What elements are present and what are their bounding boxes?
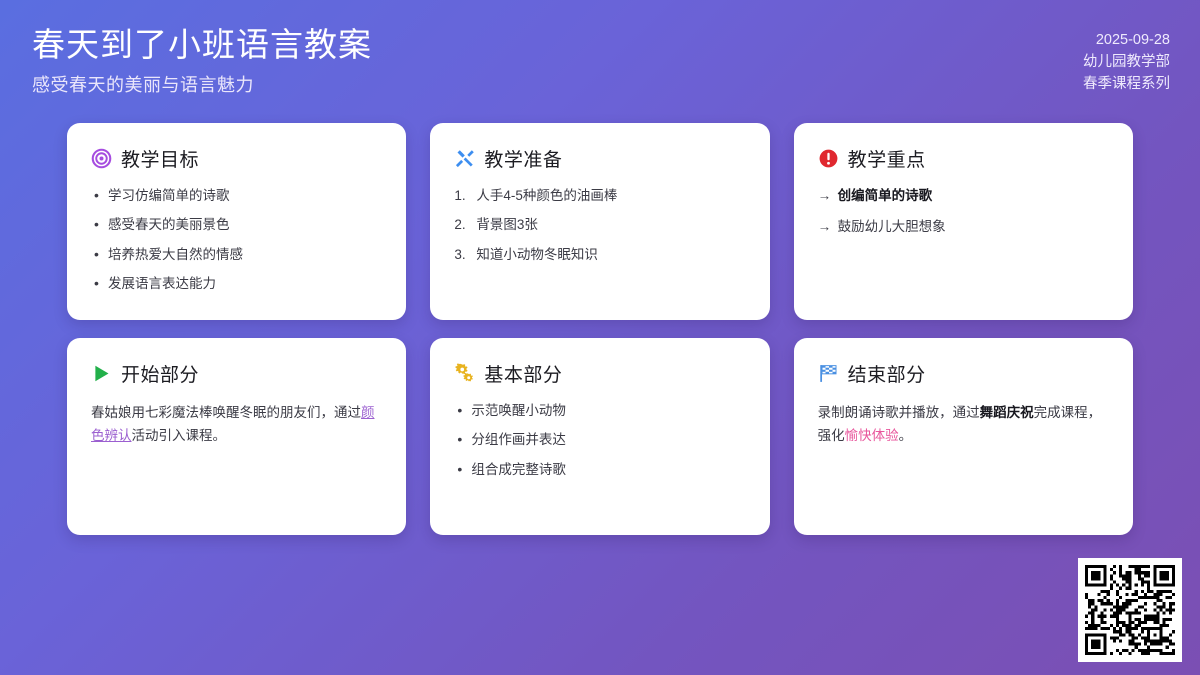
list-item: 分组作画并表达 xyxy=(454,430,745,450)
tools-icon xyxy=(454,148,475,169)
card-list: 示范唤醒小动物分组作画并表达组合成完整诗歌 xyxy=(454,401,745,480)
meta-date: 2025-09-28 xyxy=(1083,30,1170,52)
list-item: 背景图3张 xyxy=(454,215,745,235)
target-icon xyxy=(91,148,112,169)
card-header: 教学准备 xyxy=(454,145,745,172)
header: 春天到了小班语言教案 感受春天的美丽与语言魅力 xyxy=(32,24,372,97)
flag-icon xyxy=(818,363,839,384)
card: 基本部分示范唤醒小动物分组作画并表达组合成完整诗歌 xyxy=(430,338,769,535)
list-item: 人手4-5种颜色的油画棒 xyxy=(454,186,745,206)
card-list: 学习仿编简单的诗歌感受春天的美丽景色培养热爱大自然的情感发展语言表达能力 xyxy=(91,186,382,294)
card: 结束部分录制朗诵诗歌并播放，通过舞蹈庆祝完成课程，强化愉快体验。 xyxy=(794,338,1133,535)
list-item: 示范唤醒小动物 xyxy=(454,401,745,421)
highlight-text: 愉快体验 xyxy=(845,428,899,443)
header-meta: 2025-09-28 幼儿园教学部 春季课程系列 xyxy=(1083,30,1170,95)
list-item: 发展语言表达能力 xyxy=(91,274,382,294)
play-icon xyxy=(91,363,112,384)
card-list: 人手4-5种颜色的油画棒背景图3张知道小动物冬眠知识 xyxy=(454,186,745,265)
card-header: 结束部分 xyxy=(818,360,1109,387)
qr-code-image xyxy=(1085,565,1175,655)
card-grid: 教学目标学习仿编简单的诗歌感受春天的美丽景色培养热爱大自然的情感发展语言表达能力… xyxy=(67,123,1133,535)
list-item: 培养热爱大自然的情感 xyxy=(91,245,382,265)
card-title: 开始部分 xyxy=(121,360,199,387)
card-title: 结束部分 xyxy=(848,360,926,387)
card-paragraph: 春姑娘用七彩魔法棒唤醒冬眠的朋友们，通过颜色辨认活动引入课程。 xyxy=(91,401,382,447)
paragraph-text: 。 xyxy=(899,428,913,443)
paragraph-text: 春姑娘用七彩魔法棒唤醒冬眠的朋友们，通过 xyxy=(91,405,361,420)
page-title: 春天到了小班语言教案 xyxy=(32,24,372,65)
card-header: 基本部分 xyxy=(454,360,745,387)
card-title: 教学重点 xyxy=(848,145,926,172)
emphasis-text: 舞蹈庆祝 xyxy=(980,405,1034,420)
meta-department: 幼儿园教学部 xyxy=(1083,52,1170,74)
card: 教学重点创编简单的诗歌鼓励幼儿大胆想象 xyxy=(794,123,1133,320)
card: 开始部分春姑娘用七彩魔法棒唤醒冬眠的朋友们，通过颜色辨认活动引入课程。 xyxy=(67,338,406,535)
card: 教学目标学习仿编简单的诗歌感受春天的美丽景色培养热爱大自然的情感发展语言表达能力 xyxy=(67,123,406,320)
card-title: 教学准备 xyxy=(484,145,562,172)
page-subtitle: 感受春天的美丽与语言魅力 xyxy=(32,71,372,97)
paragraph-text: 活动引入课程。 xyxy=(132,428,227,443)
card-list: 创编简单的诗歌鼓励幼儿大胆想象 xyxy=(818,186,1109,238)
card-header: 教学重点 xyxy=(818,145,1109,172)
card-header: 教学目标 xyxy=(91,145,382,172)
card-header: 开始部分 xyxy=(91,360,382,387)
paragraph-text: 录制朗诵诗歌并播放，通过 xyxy=(818,405,980,420)
list-item: 感受春天的美丽景色 xyxy=(91,215,382,235)
list-item: 学习仿编简单的诗歌 xyxy=(91,186,382,206)
alert-icon xyxy=(818,148,839,169)
qr-code[interactable] xyxy=(1078,558,1182,662)
list-item: 组合成完整诗歌 xyxy=(454,460,745,480)
list-item: 知道小动物冬眠知识 xyxy=(454,245,745,265)
meta-series: 春季课程系列 xyxy=(1083,74,1170,96)
card-title: 教学目标 xyxy=(121,145,199,172)
list-item: 鼓励幼儿大胆想象 xyxy=(818,217,1109,237)
gears-icon xyxy=(454,363,475,384)
card-paragraph: 录制朗诵诗歌并播放，通过舞蹈庆祝完成课程，强化愉快体验。 xyxy=(818,401,1109,447)
card-title: 基本部分 xyxy=(484,360,562,387)
card: 教学准备人手4-5种颜色的油画棒背景图3张知道小动物冬眠知识 xyxy=(430,123,769,320)
list-item: 创编简单的诗歌 xyxy=(818,186,1109,206)
